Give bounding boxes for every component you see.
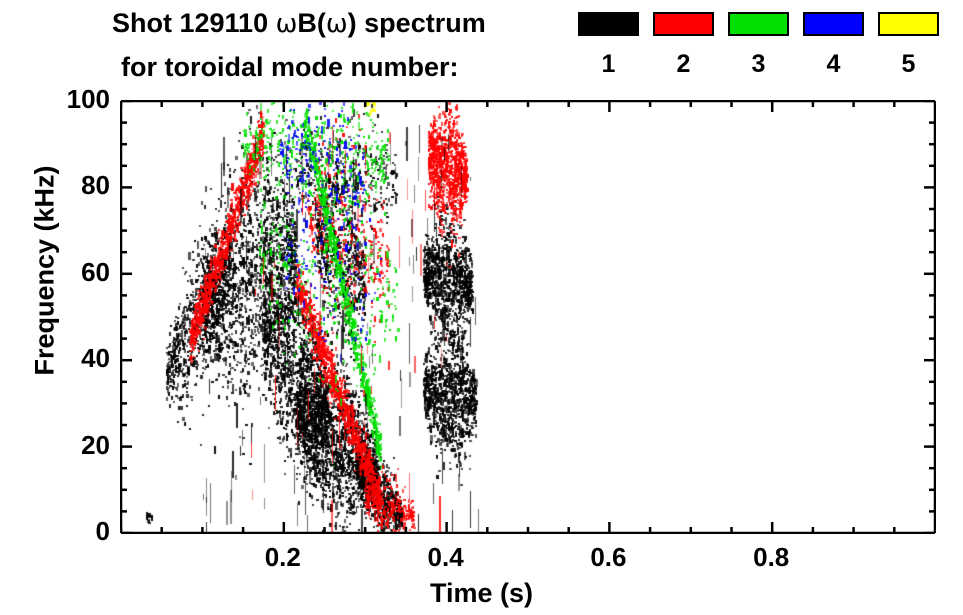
spectrogram-canvas [120, 100, 934, 532]
x-tick-label-0.8: 0.8 [716, 542, 826, 573]
legend-swatch-mode-n4 [803, 12, 864, 36]
title-b-text: B( [297, 8, 326, 38]
title-line-1: Shot 129110 ωB(ω) spectrum [112, 8, 486, 39]
legend-label-1: 1 [578, 50, 639, 79]
legend: 12345 [578, 12, 958, 96]
title-line-2: for toroidal mode number: [121, 52, 459, 83]
legend-swatch-mode-n2 [653, 12, 714, 36]
x-tick-label-0.6: 0.6 [553, 542, 663, 573]
x-tick-label-0.2: 0.2 [228, 542, 338, 573]
legend-entry-3[interactable]: 3 [728, 12, 791, 96]
plot-area [120, 100, 934, 532]
omega-symbol-2: ω [326, 9, 348, 39]
legend-label-5: 5 [878, 50, 939, 79]
legend-label-2: 2 [653, 50, 714, 79]
title-spectrum-text: ) spectrum [348, 8, 486, 38]
legend-label-3: 3 [728, 50, 789, 79]
legend-swatch-mode-n5 [878, 12, 939, 36]
legend-label-4: 4 [803, 50, 864, 79]
legend-entry-1[interactable]: 1 [578, 12, 641, 96]
y-tick-label-100: 100 [24, 84, 110, 115]
y-tick-label-60: 60 [24, 257, 110, 288]
y-tick-label-0: 0 [24, 516, 110, 547]
x-axis-title: Time (s) [0, 578, 963, 609]
y-tick-label-20: 20 [24, 430, 110, 461]
legend-entry-2[interactable]: 2 [653, 12, 716, 96]
legend-entry-4[interactable]: 4 [803, 12, 866, 96]
legend-swatch-mode-n3 [728, 12, 789, 36]
y-tick-label-40: 40 [24, 343, 110, 374]
legend-entry-5[interactable]: 5 [878, 12, 941, 96]
title-shot-text: Shot 129110 [112, 8, 276, 38]
x-tick-label-0.4: 0.4 [391, 542, 501, 573]
figure-root: Shot 129110 ωB(ω) spectrum for toroidal … [0, 0, 963, 615]
y-tick-label-80: 80 [24, 170, 110, 201]
omega-symbol-1: ω [276, 9, 298, 39]
legend-swatch-mode-n1 [578, 12, 639, 36]
